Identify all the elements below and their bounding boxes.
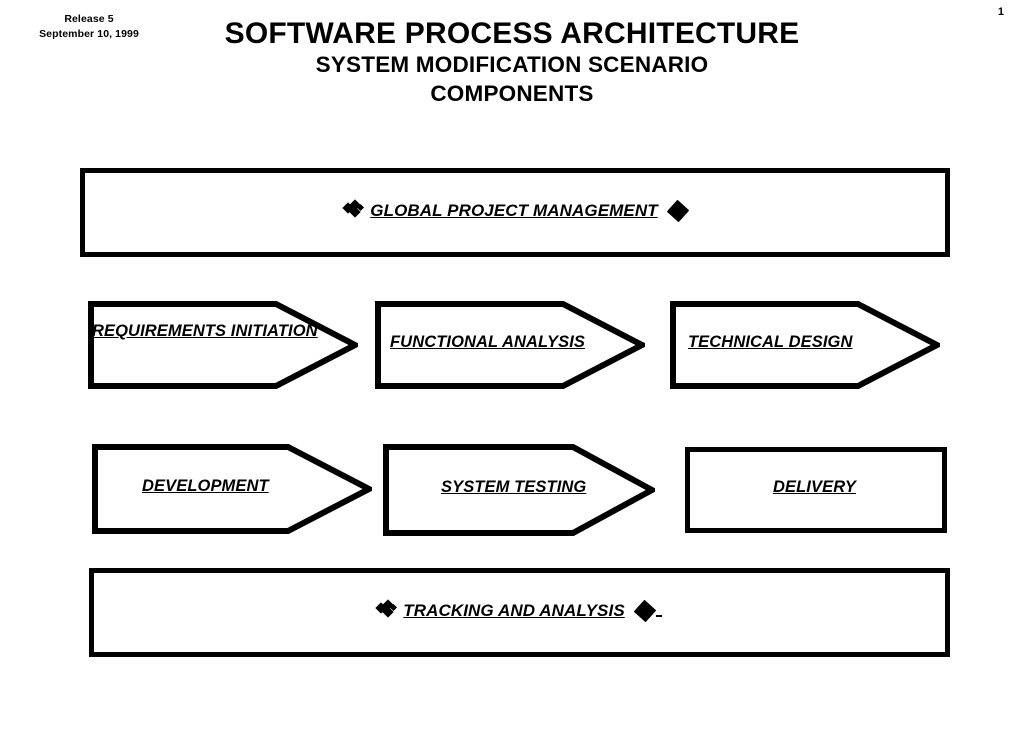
banner-tracking-and-analysis: TRACKING AND ANALYSIS — [89, 568, 950, 657]
process-step-functional-analysis: FUNCTIONAL ANALYSIS — [375, 301, 645, 389]
process-step-system-testing: SYSTEM TESTING — [383, 444, 655, 536]
slide-canvas: Release 5 September 10, 1999 1 SOFTWARE … — [0, 0, 1024, 738]
four-diamond-cluster-icon — [344, 201, 364, 221]
page-title: SOFTWARE PROCESS ARCHITECTURE SYSTEM MOD… — [0, 18, 1024, 109]
banner-top-content: GLOBAL PROJECT MANAGEMENT — [344, 201, 685, 221]
banner-top-label: GLOBAL PROJECT MANAGEMENT — [364, 201, 663, 221]
process-step-label: FUNCTIONAL ANALYSIS — [390, 333, 585, 352]
process-step-label: REQUIREMENTS INITIATION — [92, 322, 318, 341]
process-step-label: SYSTEM TESTING — [441, 478, 586, 497]
banner-bottom-content: TRACKING AND ANALYSIS — [377, 601, 662, 621]
title-line-2: SYSTEM MODIFICATION SCENARIO — [0, 50, 1024, 79]
process-step-development: DEVELOPMENT — [92, 444, 372, 534]
process-step-technical-design: TECHNICAL DESIGN — [670, 301, 940, 389]
trailing-dash-icon — [656, 615, 662, 617]
title-line-1: SOFTWARE PROCESS ARCHITECTURE — [0, 18, 1024, 50]
four-diamond-cluster-icon — [377, 601, 397, 621]
banner-global-project-management: GLOBAL PROJECT MANAGEMENT — [80, 168, 950, 257]
title-line-3: COMPONENTS — [0, 79, 1024, 108]
process-step-label: DEVELOPMENT — [142, 477, 269, 496]
solid-diamond-icon — [633, 599, 656, 622]
process-step-label: DELIVERY — [773, 478, 856, 497]
banner-bottom-label: TRACKING AND ANALYSIS — [397, 601, 631, 621]
solid-diamond-icon — [666, 199, 689, 222]
process-step-delivery: DELIVERY — [685, 447, 947, 533]
process-step-label: TECHNICAL DESIGN — [688, 333, 852, 352]
page-number: 1 — [998, 6, 1004, 18]
chevron-shape — [88, 301, 358, 389]
process-step-requirements-initiation: REQUIREMENTS INITIATION — [88, 301, 358, 389]
